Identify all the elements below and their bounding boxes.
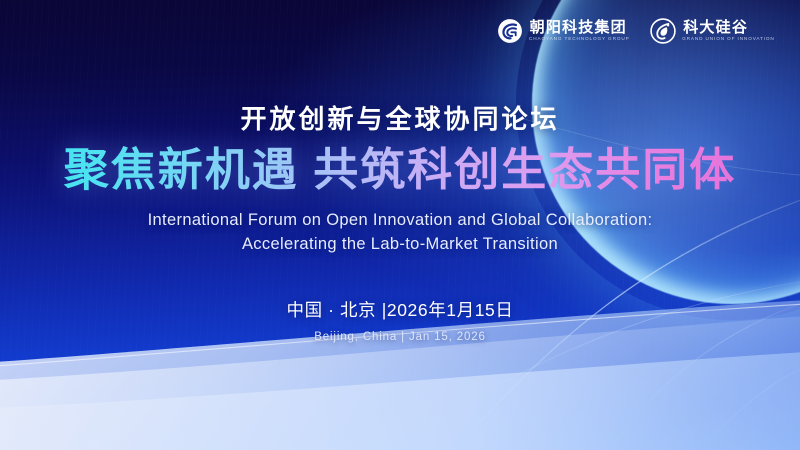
forum-subtitle-line2: Accelerating the Lab-to-Market Transitio…: [0, 233, 800, 257]
event-meta-en: Beijing, China | Jan 15, 2026: [0, 331, 800, 343]
logo-grand-union-of-innovation[interactable]: 科大硅谷 GRAND UNION OF INNOVATION: [650, 18, 774, 44]
logo-chaoyang-text: 朝阳科技集团 CHAOYANG TECHNOLOGY GROUP: [530, 20, 629, 43]
conference-banner: 朝阳科技集团 CHAOYANG TECHNOLOGY GROUP 科大硅谷 GR…: [0, 0, 800, 450]
logo-chaoyang-technology-group[interactable]: 朝阳科技集团 CHAOYANG TECHNOLOGY GROUP: [497, 18, 629, 44]
logo-grandunion-text: 科大硅谷 GRAND UNION OF INNOVATION: [683, 20, 774, 43]
forum-kicker-cn: 开放创新与全球协同论坛: [0, 104, 800, 135]
logo-chaoyang-cn: 朝阳科技集团: [530, 20, 629, 36]
sponsor-logo-bar: 朝阳科技集团 CHAOYANG TECHNOLOGY GROUP 科大硅谷 GR…: [497, 18, 774, 44]
forum-subtitle: International Forum on Open Innovation a…: [0, 209, 800, 257]
swirl-circle-icon: [497, 18, 523, 44]
event-meta: 中国 · 北京 |2026年1月15日 Beijing, China | Jan…: [0, 297, 800, 343]
event-meta-cn: 中国 · 北京 |2026年1月15日: [0, 297, 800, 322]
logo-grandunion-cn: 科大硅谷: [683, 20, 774, 36]
droplet-circle-icon: [650, 18, 676, 44]
forum-headline-cn: 聚焦新机遇 共筑科创生态共同体: [0, 144, 800, 196]
logo-grandunion-en: GRAND UNION OF INNOVATION: [682, 36, 775, 43]
logo-chaoyang-en: CHAOYANG TECHNOLOGY GROUP: [529, 36, 630, 43]
forum-subtitle-line1: International Forum on Open Innovation a…: [0, 209, 800, 233]
banner-content: 开放创新与全球协同论坛 聚焦新机遇 共筑科创生态共同体 Internationa…: [0, 104, 800, 343]
